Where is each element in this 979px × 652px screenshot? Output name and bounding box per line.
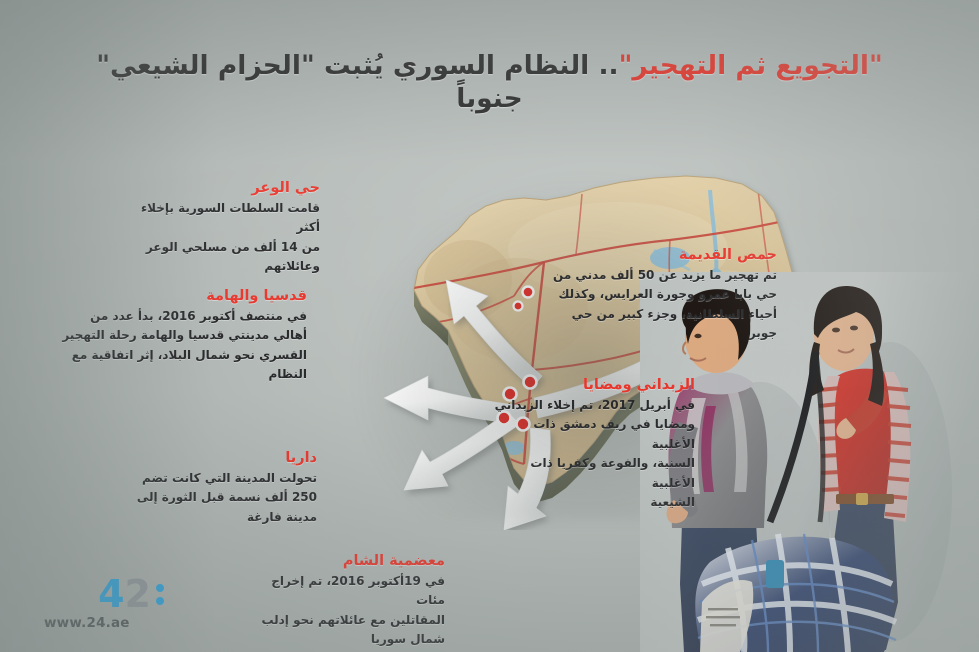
callout-line: شمال سوريا [240,630,445,649]
callout-zabadani: الزبداني ومضايا في أبريل 2017، تم إخلاء … [487,377,695,513]
callout-line: في 19أكتوبر 2016، تم إخراج مئات [240,572,445,611]
callout-line: السنية، والفوعة وكفريا ذات الأغلبية [487,454,695,493]
callout-line: من 14 ألف من مسلحي الوعر [128,238,320,257]
callout-body: في منتصف أكتوبر 2016، بدأ عدد من أهالي م… [49,307,307,385]
callout-body: في أبريل 2017، تم إخلاء الزبداني ومضايا … [487,396,695,513]
callout-title: الزبداني ومضايا [487,377,695,393]
callout-body: قامت السلطات السورية بإخلاء أكثر من 14 أ… [128,199,320,277]
callout-line: أحياء السلطانية، وجزء كبير من حي جوبر [545,305,777,344]
site-logo[interactable]: 2 4 www.24.ae [44,575,164,631]
callout-daraya: داريا تحولت المدينة التي كانت تضم 250 أل… [112,450,317,527]
callout-line: أهالي مدينتي قدسيا والهامة رحلة التهجير [49,326,307,345]
callout-homs: حمص القديمة تم تهجير ما يزيد عن 50 ألف م… [545,247,777,344]
callout-line: النظام [49,365,307,384]
logo-mark: 2 4 [44,575,164,613]
logo-digit-two: 2 [125,577,151,611]
callout-title: داريا [112,450,317,466]
logo-url: www.24.ae [44,615,164,631]
callout-body: تحولت المدينة التي كانت تضم 250 ألف نسمة… [112,469,317,527]
callout-line: مدينة فارغة [112,508,317,527]
logo-digit-four: 4 [98,577,124,611]
callout-line: المقاتلين مع عائلاتهم نحو إدلب [240,611,445,630]
colon-dots-icon [156,584,164,605]
callout-line: الشيعية [487,493,695,512]
callout-line: قامت السلطات السورية بإخلاء أكثر [128,199,320,238]
callout-line: في منتصف أكتوبر 2016، بدأ عدد من [49,307,307,326]
callout-line: في أبريل 2017، تم إخلاء الزبداني [487,396,695,415]
callout-qudsaya: قدسيا والهامة في منتصف أكتوبر 2016، بدأ … [49,288,307,385]
callout-body: في 19أكتوبر 2016، تم إخراج مئات المقاتلي… [240,572,445,650]
title-highlight: "التجويع ثم التهجير" [619,50,883,81]
callout-line: حي بابا عمرو وجورة العرايس، وكذلك [545,285,777,304]
callout-title: حي الوعر [128,180,320,196]
callout-line: ومضايا في ريف دمشق ذات الأغلبية [487,415,695,454]
callout-line: تحولت المدينة التي كانت تضم [112,469,317,488]
callout-title: معضمية الشام [240,553,445,569]
callout-title: قدسيا والهامة [49,288,307,304]
callout-body: تم تهجير ما يزيد عن 50 ألف مدني من حي با… [545,266,777,344]
callout-line: وعائلاتهم [128,257,320,276]
callout-line: القسري نحو شمال البلاد، إثر اتفاقية مع [49,346,307,365]
callout-line: 250 ألف نسمة قبل الثورة إلى [112,488,317,507]
callout-line: تم تهجير ما يزيد عن 50 ألف مدني من [545,266,777,285]
callout-title: حمص القديمة [545,247,777,263]
infographic-canvas: "التجويع ثم التهجير".. النظام السوري يُث… [0,0,979,652]
page-title: "التجويع ثم التهجير".. النظام السوري يُث… [62,49,917,115]
callout-waer: حي الوعر قامت السلطات السورية بإخلاء أكث… [128,180,320,277]
callout-moadamiyat: معضمية الشام في 19أكتوبر 2016، تم إخراج … [240,553,445,650]
title-rest: .. النظام السوري يُثبت "الحزام الشيعي" ج… [96,50,618,114]
